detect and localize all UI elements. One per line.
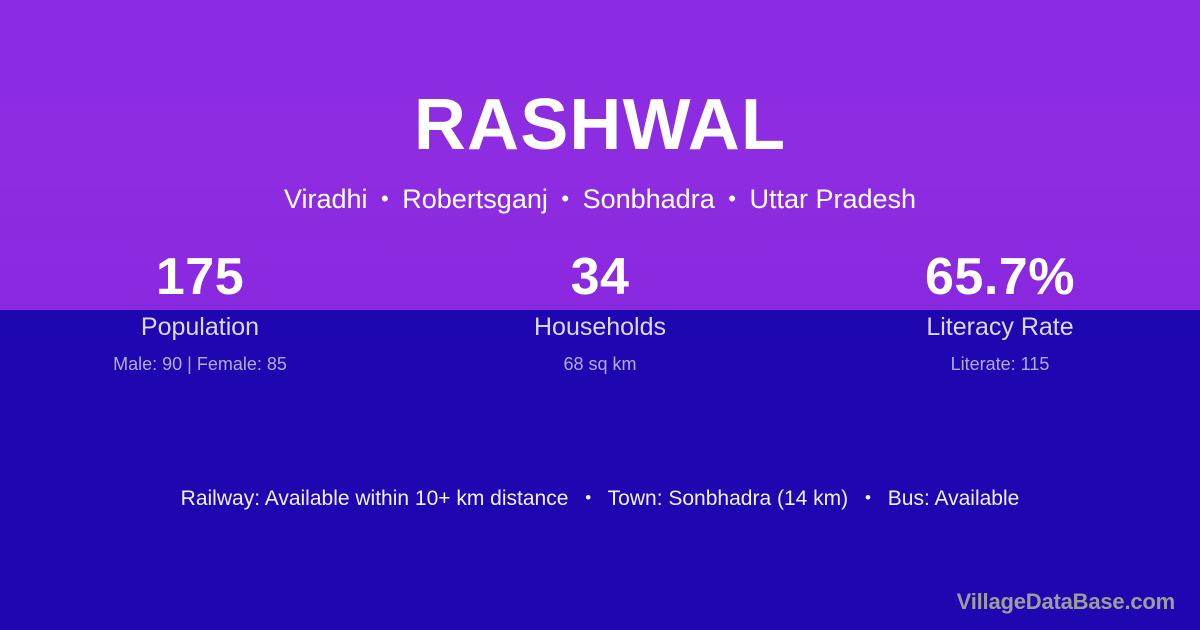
- breadcrumb-state: Uttar Pradesh: [749, 184, 916, 214]
- stat-literacy-rate: 65.7% Literacy Rate Literate: 115: [800, 248, 1200, 375]
- stat-sublabel: Male: 90 | Female: 85: [0, 353, 400, 375]
- breadcrumb-separator: •: [555, 182, 575, 216]
- stat-label: Literacy Rate: [800, 312, 1200, 342]
- stat-value: 65.7%: [800, 248, 1200, 306]
- breadcrumb-separator: •: [375, 182, 395, 216]
- stat-sublabel: Literate: 115: [800, 353, 1200, 375]
- stat-households: 34 Households 68 sq km: [400, 248, 800, 375]
- stat-population: 175 Population Male: 90 | Female: 85: [0, 248, 400, 375]
- infra-town: Town: Sonbhadra (14 km): [608, 487, 848, 510]
- breadcrumb: Viradhi • Robertsganj • Sonbhadra • Utta…: [0, 182, 1200, 218]
- village-info-card: RASHWAL Viradhi • Robertsganj • Sonbhadr…: [0, 0, 1200, 630]
- stat-sublabel: 68 sq km: [400, 353, 800, 375]
- page-title: RASHWAL: [0, 84, 1200, 166]
- infra-railway: Railway: Available within 10+ km distanc…: [181, 487, 569, 510]
- breadcrumb-separator: •: [722, 182, 742, 216]
- stat-label: Households: [400, 312, 800, 342]
- infra-bus: Bus: Available: [888, 487, 1020, 510]
- site-watermark: VillageDataBase.com: [957, 589, 1175, 615]
- stat-label: Population: [0, 312, 400, 342]
- stat-value: 175: [0, 248, 400, 306]
- stats-row: 175 Population Male: 90 | Female: 85 34 …: [0, 248, 1200, 375]
- breadcrumb-district: Sonbhadra: [583, 184, 715, 214]
- infra-separator: •: [574, 484, 602, 512]
- stat-value: 34: [400, 248, 800, 306]
- breadcrumb-village: Viradhi: [284, 184, 368, 214]
- breadcrumb-block: Robertsganj: [402, 184, 548, 214]
- infra-separator: •: [854, 484, 882, 512]
- infrastructure-line: Railway: Available within 10+ km distanc…: [0, 485, 1200, 514]
